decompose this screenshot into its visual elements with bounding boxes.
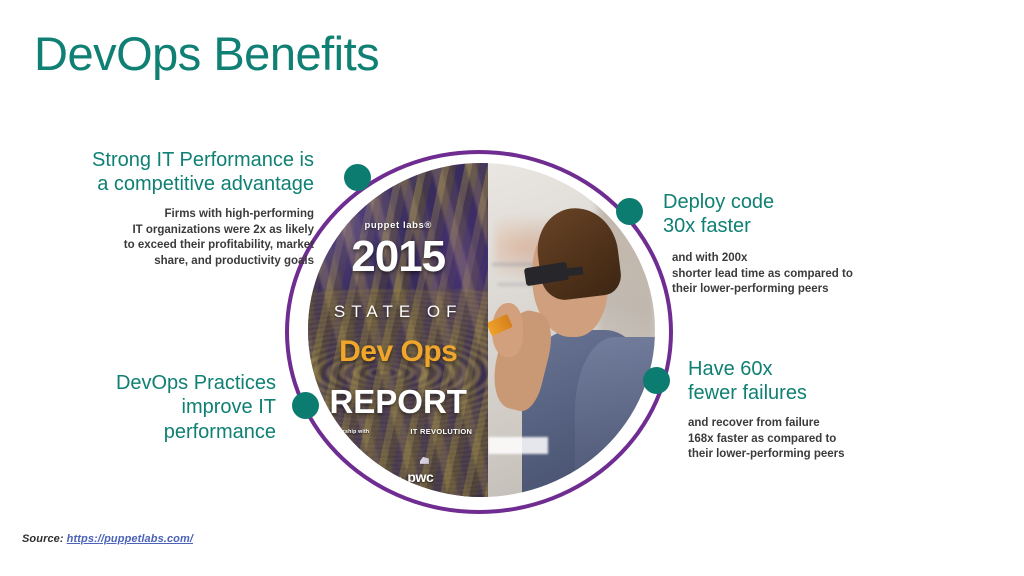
callout-fewer-failures-heading: Have 60x fewer failures	[688, 357, 938, 406]
source-link[interactable]: https://puppetlabs.com/	[67, 533, 193, 545]
circular-image-content: puppet labs® 2015 STATE OF Dev Ops REPOR…	[308, 163, 655, 497]
callout-strong-it-heading: Strong IT Performance is a competitive a…	[58, 148, 314, 197]
callout-fewer-failures: Have 60x fewer failures and recover from…	[688, 357, 938, 463]
callout-deploy-code: Deploy code 30x faster and with 200x sho…	[663, 190, 913, 298]
callout-deploy-code-body: and with 200x shorter lead time as compa…	[672, 251, 913, 298]
connector-dot-top-right	[616, 198, 643, 225]
cover-partnership-label: In Partnership with	[319, 429, 370, 435]
cover-partner-name: IT REVOLUTION	[410, 427, 472, 436]
cover-year-text: 2015	[308, 235, 488, 279]
callout-devops-practices: DevOps Practices improve IT performance	[60, 371, 276, 444]
callout-fewer-failures-body: and recover from failure 168x faster as …	[688, 416, 938, 463]
circle-graphic: puppet labs® 2015 STATE OF Dev Ops REPOR…	[283, 148, 675, 516]
callout-deploy-code-heading: Deploy code 30x faster	[663, 190, 913, 239]
source-footer: Source:https://puppetlabs.com/	[22, 533, 193, 545]
cover-report-text: REPORT	[308, 383, 488, 421]
pwc-logo-mark-icon	[420, 457, 429, 464]
callout-strong-it-body: Firms with high-performing IT organizati…	[58, 207, 314, 270]
slide-canvas: DevOps Benefits puppet labs® 2015 STATE …	[0, 0, 1024, 576]
cover-sponsored-label: Sponsored by	[363, 476, 401, 484]
connector-dot-bottom-right	[643, 367, 670, 394]
callout-strong-it-performance: Strong IT Performance is a competitive a…	[58, 148, 314, 270]
cover-brand-text: puppet labs®	[308, 220, 488, 231]
cover-devops-text: Dev Ops	[308, 335, 488, 369]
circular-image-mask: puppet labs® 2015 STATE OF Dev Ops REPOR…	[308, 163, 655, 497]
connector-dot-top-left	[344, 164, 371, 191]
cover-stateof-text: STATE OF	[308, 302, 488, 322]
source-label: Source:	[22, 533, 64, 545]
report-cover-image: puppet labs® 2015 STATE OF Dev Ops REPOR…	[308, 163, 488, 497]
whiteboard-ledge	[488, 437, 548, 454]
page-title: DevOps Benefits	[34, 30, 379, 77]
callout-devops-practices-heading: DevOps Practices improve IT performance	[60, 371, 276, 444]
cover-sponsor-row: Sponsored by pwc	[308, 470, 488, 484]
cover-sponsor-name: pwc	[407, 470, 433, 484]
person-shoulder	[575, 337, 655, 497]
